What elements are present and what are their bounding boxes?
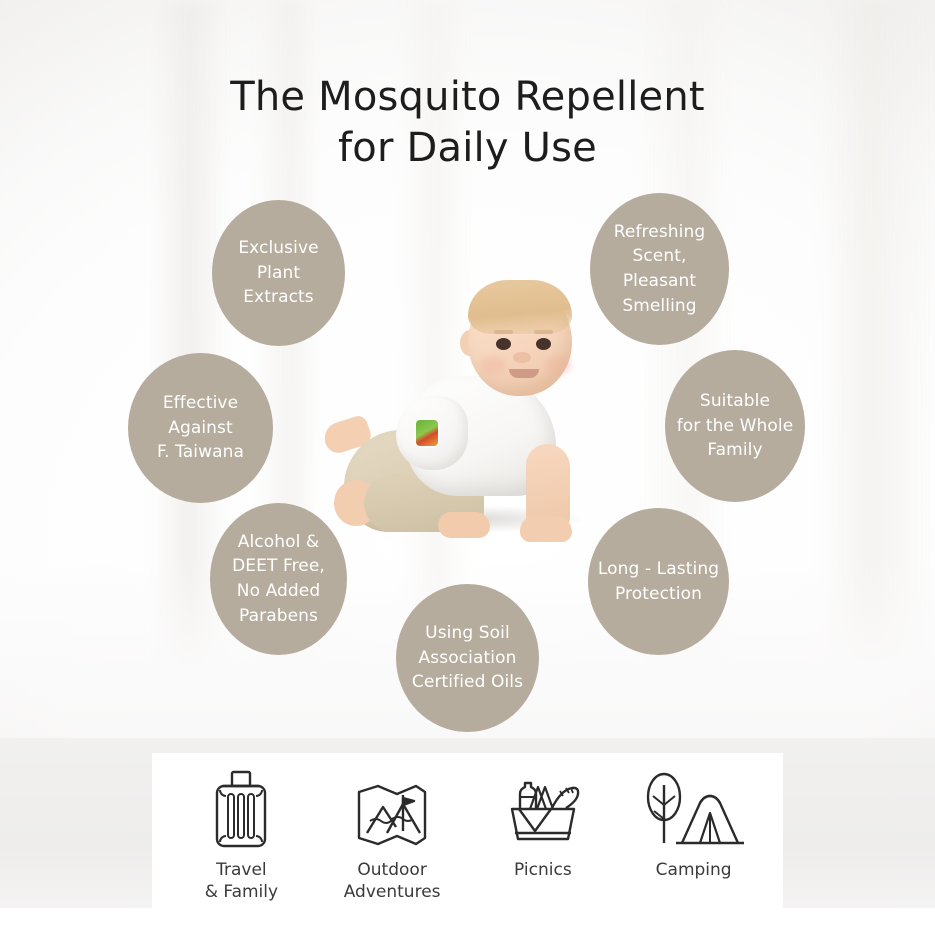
- page-title: The Mosquito Repellent for Daily Use: [0, 72, 935, 174]
- feature-circle-effective-against-f-taiwana: Effective Against F. Taiwana: [128, 353, 273, 503]
- usage-label: Picnics: [514, 859, 572, 881]
- folded-map-icon: [354, 767, 430, 851]
- baby-cheek-left: [480, 356, 506, 374]
- baby-cheek-right: [546, 356, 572, 374]
- feature-label: Suitable for the Whole Family: [671, 389, 800, 463]
- title-line-2: for Daily Use: [0, 123, 935, 174]
- usage-label: Camping: [656, 859, 732, 881]
- feature-label: Alcohol & DEET Free, No Added Parabens: [226, 530, 331, 629]
- tent-tree-icon: [642, 767, 746, 851]
- feature-label: Exclusive Plant Extracts: [232, 236, 324, 310]
- baby-nose: [513, 352, 531, 363]
- baby-eyebrow-left: [494, 330, 513, 334]
- sleeve-logo-patch: [416, 420, 438, 446]
- baby-hair: [468, 280, 572, 334]
- baby-mouth: [509, 369, 539, 378]
- baby-eyebrow-right: [534, 330, 553, 334]
- usage-item-travel-family: Travel & Family: [166, 767, 316, 903]
- usage-scenarios-panel: Travel & Family Outdoor Adventures: [152, 753, 783, 908]
- feature-circle-alcohol-deet-free: Alcohol & DEET Free, No Added Parabens: [210, 503, 347, 655]
- suitcase-icon: [209, 767, 273, 851]
- usage-label: Outdoor Adventures: [344, 859, 441, 903]
- feature-label: Refreshing Scent, Pleasant Smelling: [608, 220, 712, 319]
- feature-label: Long - Lasting Protection: [592, 557, 725, 606]
- feature-label: Effective Against F. Taiwana: [151, 391, 250, 465]
- feature-circle-suitable-whole-family: Suitable for the Whole Family: [665, 350, 805, 502]
- infographic-page: The Mosquito Repellent for Daily Use Exc…: [0, 0, 935, 935]
- usage-item-picnics: Picnics: [468, 767, 618, 881]
- baby-hand-left: [438, 512, 490, 538]
- usage-item-camping: Camping: [619, 767, 769, 881]
- usage-item-outdoor-adventures: Outdoor Adventures: [317, 767, 467, 903]
- title-line-1: The Mosquito Repellent: [0, 72, 935, 123]
- page-footer-space: [0, 908, 935, 935]
- baby-hand-right: [520, 516, 572, 542]
- baby-photo: [310, 268, 640, 568]
- baby-eye-right: [536, 338, 551, 350]
- picnic-basket-icon: [502, 767, 584, 851]
- feature-circle-refreshing-scent: Refreshing Scent, Pleasant Smelling: [590, 193, 729, 345]
- usage-label: Travel & Family: [205, 859, 278, 903]
- feature-circle-long-lasting-protection: Long - Lasting Protection: [588, 508, 729, 655]
- baby-eye-left: [496, 338, 511, 350]
- feature-label: Using Soil Association Certified Oils: [406, 621, 529, 695]
- feature-circle-exclusive-plant-extracts: Exclusive Plant Extracts: [212, 200, 345, 346]
- feature-circle-soil-association-oils: Using Soil Association Certified Oils: [396, 584, 539, 732]
